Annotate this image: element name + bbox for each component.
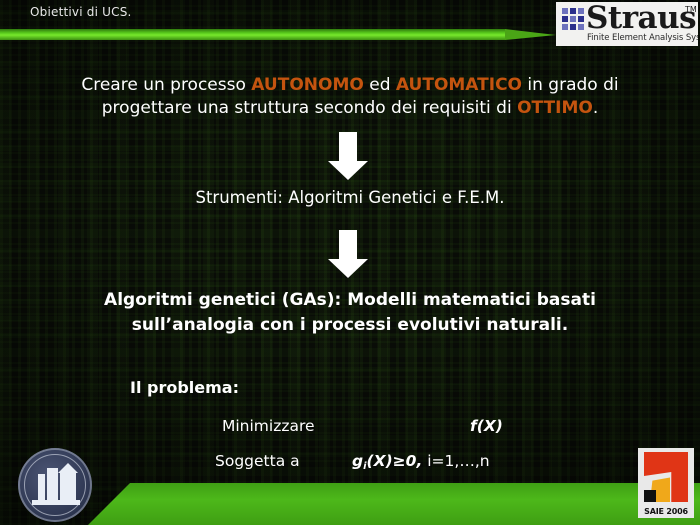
constraint-range: i=1,…,n — [422, 452, 489, 470]
statement-line-1-part2: ed — [364, 75, 396, 95]
slide-header-title: Obiettivi di UCS. — [30, 5, 132, 19]
saie-label: SAIE 2006 — [638, 507, 694, 516]
statement-line-3: Algoritmi genetici (GAs): Modelli matema… — [70, 288, 630, 338]
seal-tower — [38, 474, 45, 500]
seal-roof — [58, 463, 78, 473]
seal-building-right — [60, 472, 76, 500]
highlight-autonomo: AUTONOMO — [251, 75, 364, 95]
constraint-function-symbol: g — [352, 452, 363, 470]
university-seal-icon — [18, 448, 92, 522]
saie-black-square — [644, 490, 656, 502]
highlight-ottimo: OTTIMO — [517, 98, 593, 118]
statement-line-2: Strumenti: Algoritmi Genetici e F.E.M. — [100, 186, 600, 209]
straus7-grid-icon — [562, 8, 584, 30]
header-green-bar-tip — [505, 29, 556, 40]
header-green-bar — [0, 29, 556, 40]
subject-to-label: Soggetta a — [215, 452, 300, 470]
straus7-tagline: Finite Element Analysis System — [587, 33, 698, 43]
minimize-expression: f(X) — [470, 417, 503, 435]
minimize-label: Minimizzare — [222, 417, 315, 435]
header-green-bar-body — [0, 29, 505, 40]
straus7-trademark-icon: TM — [685, 5, 697, 14]
subject-to-expression: gi(X)≥0, i=1,…,n — [352, 452, 490, 472]
arrow-head — [328, 161, 368, 180]
presentation-slide: Obiettivi di UCS. Straus7 TM Finite Elem… — [0, 0, 700, 525]
arrow-shaft — [339, 230, 357, 260]
saie-logo: SAIE 2006 — [638, 448, 694, 518]
statement-line-1-part1: Creare un processo — [81, 75, 251, 95]
straus7-logo: Straus7 TM Finite Element Analysis Syste… — [556, 2, 698, 46]
seal-building-left — [47, 468, 58, 500]
down-arrow-icon-1 — [328, 132, 368, 180]
seal-base — [32, 500, 80, 505]
straus7-wordmark: Straus7 — [586, 2, 698, 35]
constraint-inequality: (X)≥0, — [367, 452, 423, 470]
highlight-automatico: AUTOMATICO — [396, 75, 522, 95]
arrow-shaft — [339, 132, 357, 162]
problem-heading: Il problema: — [130, 378, 239, 397]
statement-line-1: Creare un processo AUTONOMO ed AUTOMATIC… — [60, 74, 640, 120]
arrow-head — [328, 259, 368, 278]
down-arrow-icon-2 — [328, 230, 368, 278]
statement-line-1-part4: . — [593, 98, 598, 118]
